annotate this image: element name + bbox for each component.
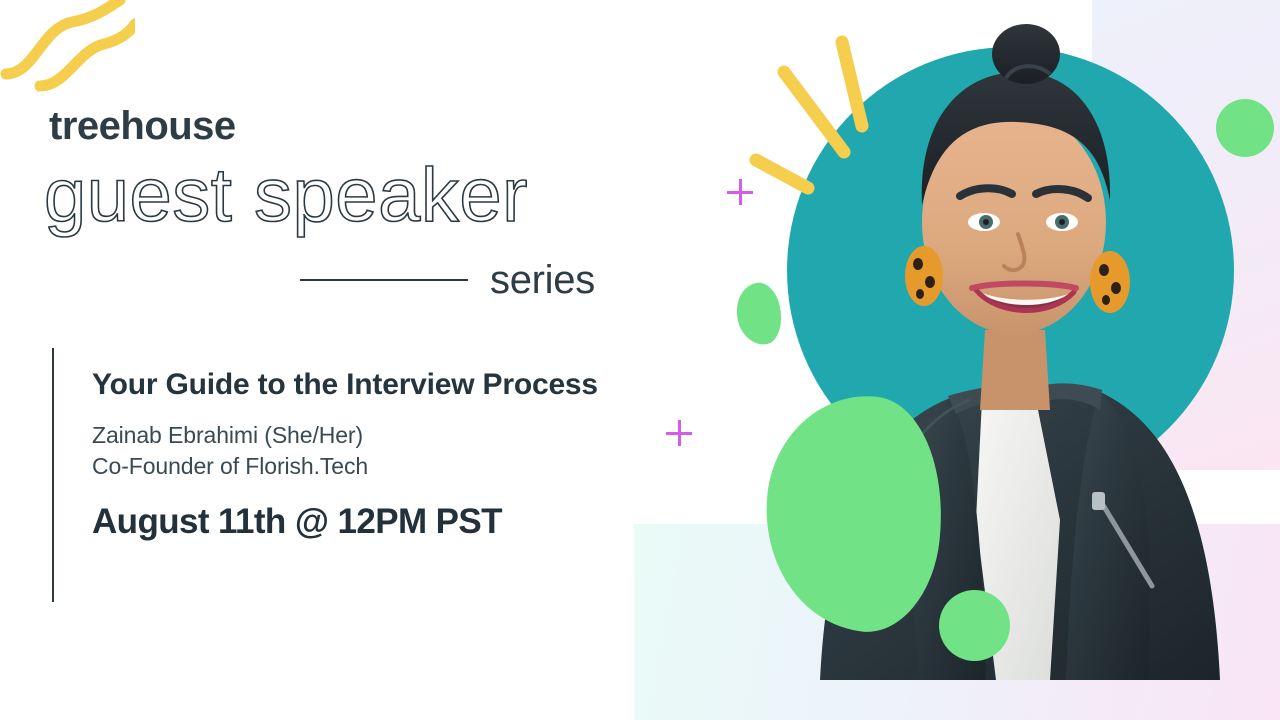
event-datetime: August 11th @ 12PM PST [92, 504, 612, 539]
vertical-accent-rule [52, 348, 54, 602]
event-details: Your Guide to the Interview Process Zain… [92, 366, 612, 539]
green-circle-shape [1216, 99, 1274, 157]
headline-outline: guest speaker [44, 158, 528, 234]
green-circle-shape [939, 590, 1010, 661]
series-row: series [300, 258, 630, 302]
brand-wordmark: treehouse [49, 106, 236, 146]
promo-slide: treehouse guest speaker series Your Guid… [0, 0, 1280, 720]
yellow-squiggle-strokes [0, 0, 135, 110]
series-label: series [490, 260, 595, 300]
magenta-plus-icon [666, 420, 692, 446]
yellow-spark-strokes [740, 30, 900, 200]
magenta-plus-icon [727, 179, 753, 205]
talk-title: Your Guide to the Interview Process [92, 366, 612, 404]
speaker-name: Zainab Ebrahimi (She/Her) [92, 420, 612, 451]
green-blob-shape [731, 279, 787, 349]
series-divider-rule [300, 279, 468, 281]
speaker-role: Co-Founder of Florish.Tech [92, 451, 612, 482]
